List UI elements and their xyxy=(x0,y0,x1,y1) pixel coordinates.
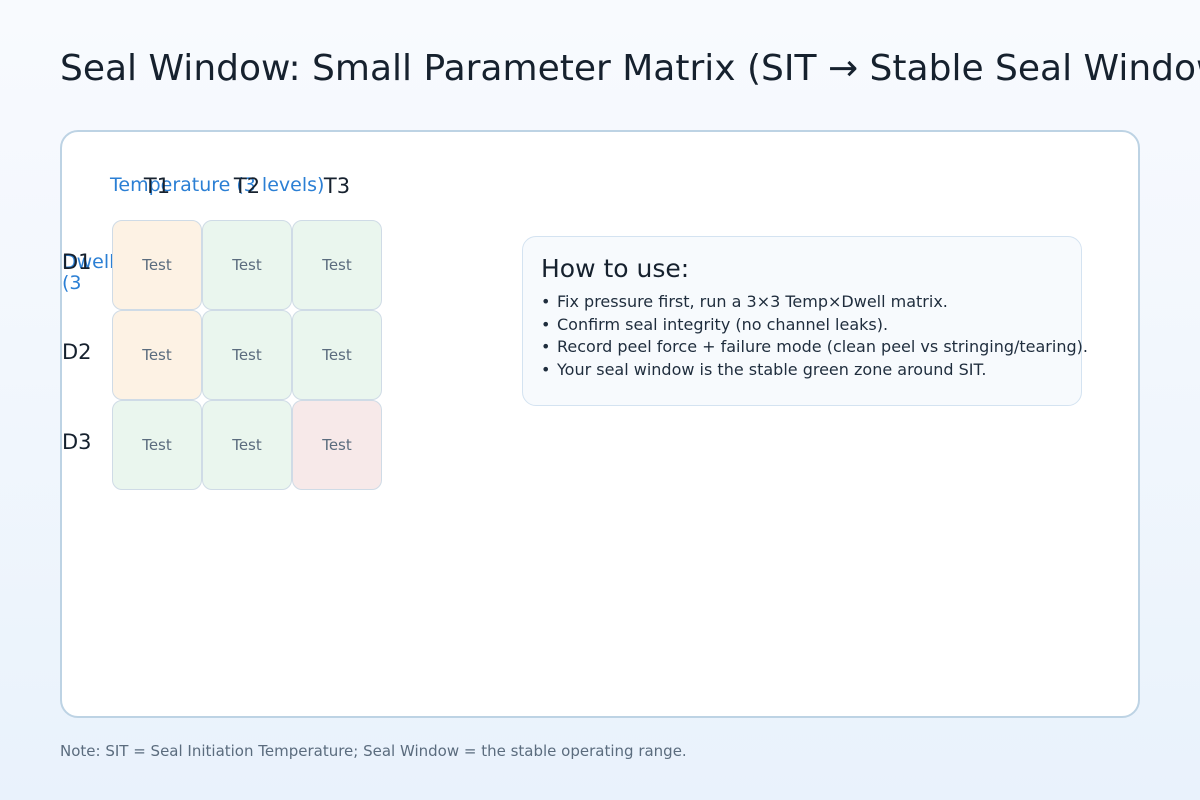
how-to-use-list: •Fix pressure first, run a 3×3 Temp×Dwel… xyxy=(541,291,1181,381)
matrix-cell[interactable]: Test xyxy=(202,310,292,400)
matrix-grid: Test Test Test Test Test Test Test Test … xyxy=(112,220,382,490)
matrix-cell[interactable]: Test xyxy=(292,310,382,400)
list-item: •Record peel force + failure mode (clean… xyxy=(541,336,1181,359)
list-item-label: Confirm seal integrity (no channel leaks… xyxy=(557,315,888,334)
matrix-row-header-d3: D3 xyxy=(62,430,108,454)
matrix-cell[interactable]: Test xyxy=(112,310,202,400)
page-title: Seal Window: Small Parameter Matrix (SIT… xyxy=(60,42,1200,96)
bullet-icon: • xyxy=(541,336,557,359)
list-item-label: Record peel force + failure mode (clean … xyxy=(557,337,1088,356)
how-to-use-title: How to use: xyxy=(541,255,689,283)
matrix-cell[interactable]: Test xyxy=(202,220,292,310)
page-root: Seal Window: Small Parameter Matrix (SIT… xyxy=(0,0,1200,800)
bullet-icon: • xyxy=(541,314,557,337)
footer-note: Note: SIT = Seal Initiation Temperature;… xyxy=(60,740,687,762)
matrix-column-header-t2: T2 xyxy=(202,174,292,198)
matrix-cell[interactable]: Test xyxy=(112,220,202,310)
bullet-icon: • xyxy=(541,359,557,382)
list-item: •Your seal window is the stable green zo… xyxy=(541,359,1181,382)
list-item-label: Fix pressure first, run a 3×3 Temp×Dwell… xyxy=(557,292,948,311)
matrix-cell[interactable]: Test xyxy=(112,400,202,490)
matrix-cell[interactable]: Test xyxy=(292,220,382,310)
matrix-cell[interactable]: Test xyxy=(292,400,382,490)
matrix-row-header-d2: D2 xyxy=(62,340,108,364)
matrix-row-header-d1: D1 xyxy=(62,250,108,274)
how-to-use-panel: How to use: •Fix pressure first, run a 3… xyxy=(522,236,1082,406)
matrix-cell[interactable]: Test xyxy=(202,400,292,490)
list-item: •Confirm seal integrity (no channel leak… xyxy=(541,314,1181,337)
matrix-column-header-t1: T1 xyxy=(112,174,202,198)
list-item-label: Your seal window is the stable green zon… xyxy=(557,360,986,379)
matrix-column-header-t3: T3 xyxy=(292,174,382,198)
main-card: Temperature (3 levels) Dwell (3 levels) … xyxy=(60,130,1140,718)
bullet-icon: • xyxy=(541,291,557,314)
list-item: •Fix pressure first, run a 3×3 Temp×Dwel… xyxy=(541,291,1181,314)
